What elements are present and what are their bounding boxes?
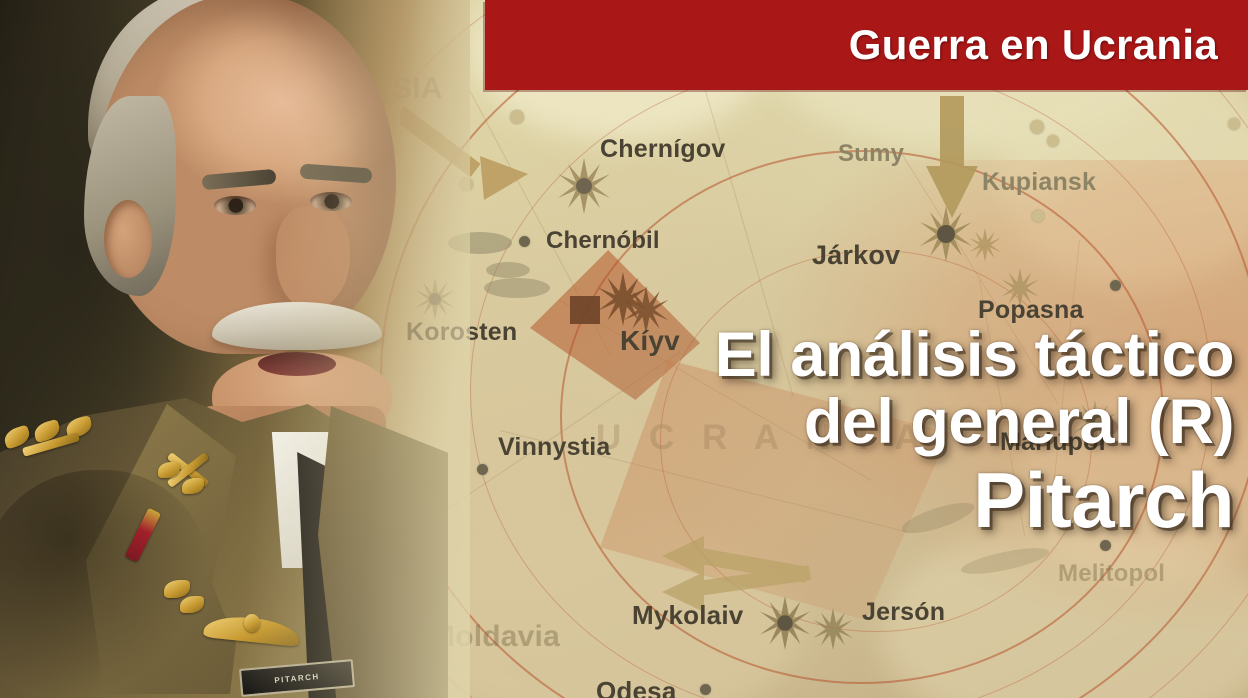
map-city-dot <box>1110 280 1121 291</box>
map-label-chernihiv: Chernígov <box>600 135 725 164</box>
map-label-mykolaiv: Mykolaiv <box>632 600 743 631</box>
map-label-kupiansk: Kupiansk <box>982 168 1096 197</box>
map-city-dot-chernobyl <box>519 236 530 247</box>
headline: El análisis táctico del general (R) Pita… <box>414 322 1234 541</box>
map-label-kherson: Jersón <box>862 598 945 627</box>
map-city-dot <box>1030 120 1044 134</box>
map-city-dot-odesa <box>700 684 711 695</box>
headline-line-2: del general (R) <box>414 389 1234 456</box>
map-terrain-shape <box>486 262 530 278</box>
map-label-melitopol: Melitopol <box>1058 560 1165 588</box>
general-pitarch-photo: PITARCH <box>0 0 470 698</box>
explosion-marker-kharkiv-icon <box>918 206 974 262</box>
map-city-dot <box>1032 210 1044 222</box>
explosion-marker-chernihiv-icon <box>556 158 612 214</box>
explosion-marker-south-icon <box>812 608 854 650</box>
map-terrain-shape <box>484 278 550 298</box>
map-city-dot <box>1047 135 1059 147</box>
section-banner[interactable]: Guerra en Ucrania <box>485 0 1248 90</box>
photo-fade-overlay <box>0 0 470 698</box>
map-city-dot <box>510 110 524 124</box>
explosion-marker-east-icon <box>968 228 1002 262</box>
map-city-dot <box>1228 118 1240 130</box>
explosion-marker-mykolaiv-icon <box>758 596 812 650</box>
section-banner-label: Guerra en Ucrania <box>849 21 1218 69</box>
map-label-kharkiv: Járkov <box>812 240 900 271</box>
article-hero-image: SIA U C R A N I A Moldavia Chernígov Sum… <box>0 0 1248 698</box>
map-label-sumy: Sumy <box>838 140 904 168</box>
map-label-odesa: Odesa <box>596 676 677 698</box>
map-label-chernobyl: Chernóbil <box>546 227 660 255</box>
headline-line-1: El análisis táctico <box>414 322 1234 389</box>
headline-line-3: Pitarch <box>414 460 1234 541</box>
